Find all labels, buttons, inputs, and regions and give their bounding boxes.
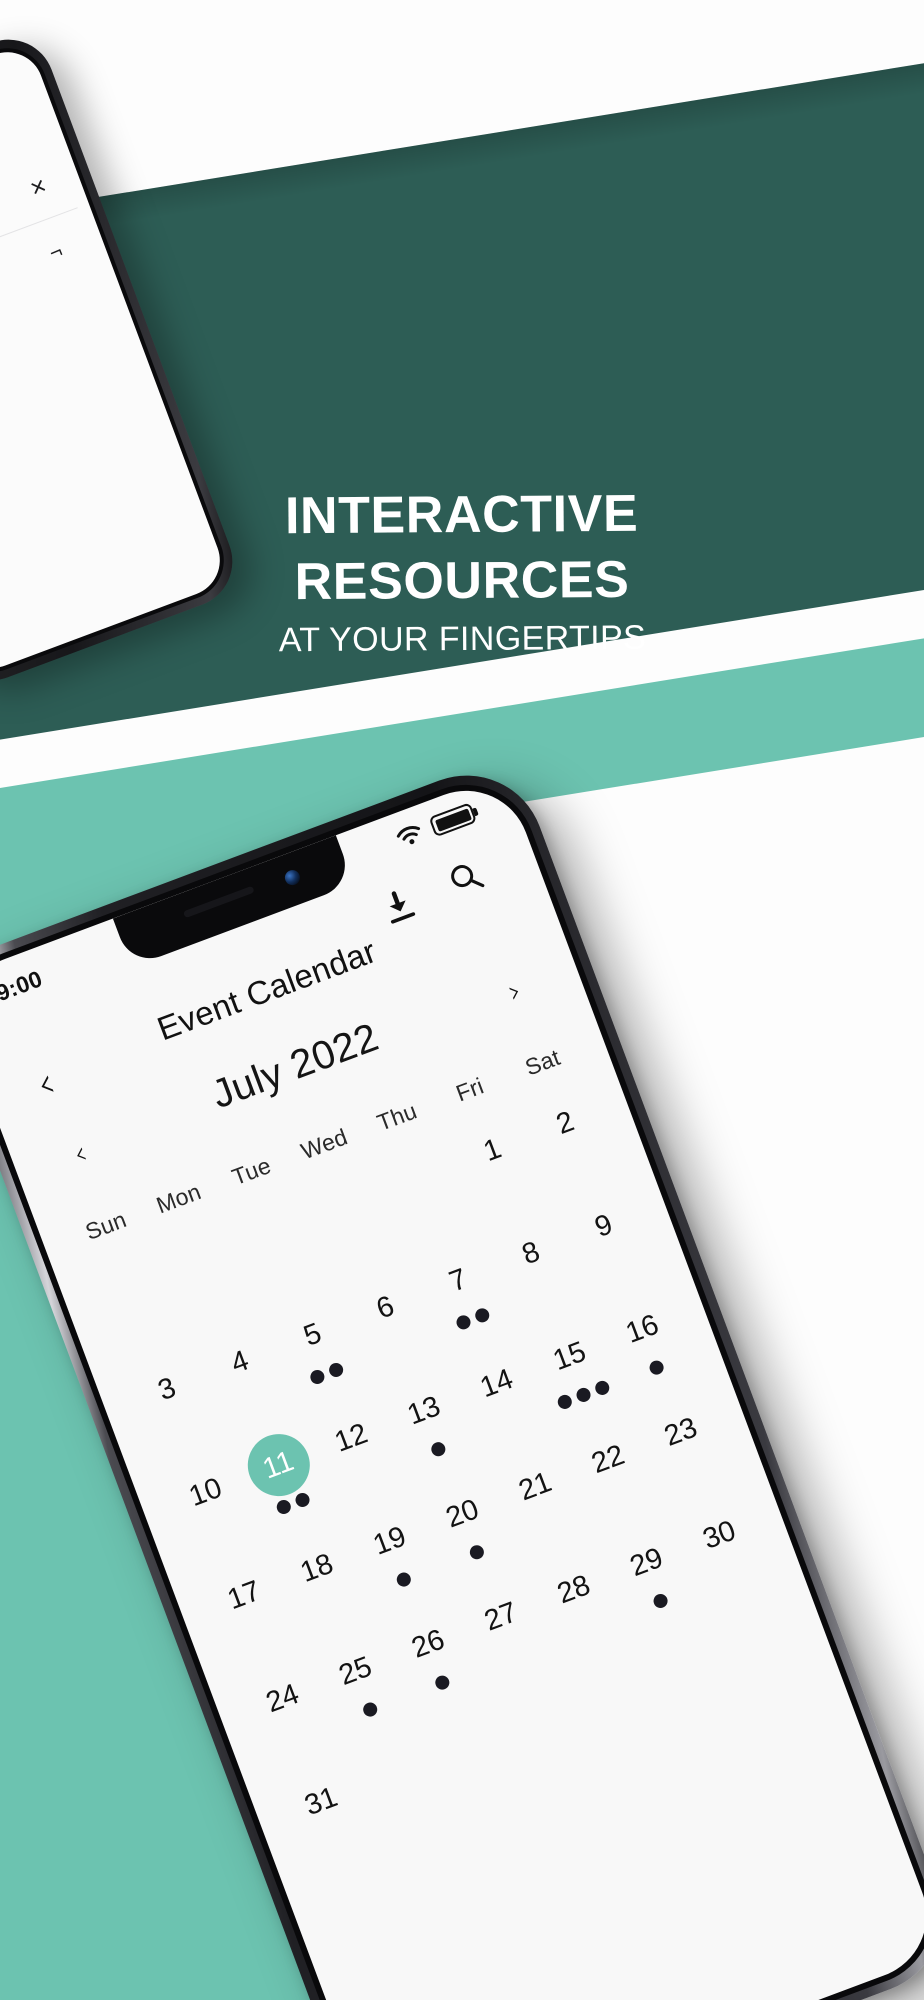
day-number: 9 <box>564 1186 644 1266</box>
event-dots <box>467 1542 486 1562</box>
headline-line-2: RESOURCES <box>0 545 924 617</box>
prev-month-button[interactable]: ‹ <box>69 1138 91 1171</box>
headline-block: INTERACTIVE RESOURCES AT YOUR FINGERTIPS <box>0 479 924 664</box>
day-number: 19 <box>350 1501 430 1581</box>
event-dots <box>395 1570 414 1590</box>
battery-full-icon <box>429 802 478 837</box>
event-dots <box>647 1358 666 1378</box>
event-dots <box>547 1518 553 1533</box>
event-dot <box>361 1701 379 1719</box>
event-dot <box>327 1361 345 1379</box>
day-number: 28 <box>534 1550 614 1630</box>
event-dot <box>468 1543 486 1561</box>
event-dots <box>543 1284 549 1299</box>
event-dot <box>274 1498 292 1516</box>
day-number: 31 <box>281 1762 361 1842</box>
search-icon[interactable] <box>443 855 489 901</box>
event-dots <box>251 1393 257 1408</box>
event-dots <box>513 1648 519 1663</box>
event-dots <box>397 1339 403 1354</box>
event-dots <box>692 1463 698 1478</box>
download-icon[interactable] <box>377 885 421 929</box>
calendar-day-31[interactable]: 31 <box>270 1750 379 1875</box>
event-dots <box>360 1700 379 1720</box>
event-dots <box>333 1832 339 1847</box>
day-number: 30 <box>680 1495 760 1575</box>
event-dot <box>556 1393 574 1411</box>
day-number: 24 <box>243 1659 323 1739</box>
next-month-button[interactable]: › <box>504 975 526 1008</box>
day-number: 10 <box>166 1453 246 1533</box>
day-number: 6 <box>346 1268 426 1348</box>
day-number: 21 <box>495 1447 575 1527</box>
day-number: 1 <box>453 1110 533 1190</box>
event-dots <box>620 1490 626 1505</box>
status-time: 9:00 <box>0 965 46 1007</box>
day-number: 12 <box>311 1398 391 1478</box>
day-number: 8 <box>491 1213 571 1293</box>
status-indicators <box>394 802 477 850</box>
event-dot <box>454 1313 472 1331</box>
event-dot <box>575 1386 593 1404</box>
event-dots <box>179 1420 185 1435</box>
event-dot <box>652 1592 670 1610</box>
event-dots <box>615 1257 621 1272</box>
corner-mark-icon: ¬ <box>46 240 65 264</box>
day-number: 22 <box>568 1420 648 1500</box>
event-dots <box>217 1523 223 1538</box>
day-number: 17 <box>204 1556 284 1636</box>
back-button[interactable]: ‹ <box>31 1061 61 1106</box>
event-dots <box>429 1439 448 1459</box>
event-dot <box>293 1491 311 1509</box>
day-number: 23 <box>641 1392 721 1472</box>
event-dots <box>294 1729 300 1744</box>
day-number: 29 <box>607 1523 687 1603</box>
day-number: 13 <box>384 1371 464 1451</box>
event-dots <box>652 1591 671 1611</box>
event-dots <box>585 1621 591 1636</box>
event-dots <box>508 1414 514 1429</box>
day-number: 3 <box>127 1350 207 1430</box>
event-dot <box>473 1306 491 1324</box>
event-dot <box>648 1359 666 1377</box>
poster-stage: INTERACTIVE RESOURCES AT YOUR FINGERTIPS… <box>0 0 924 2000</box>
event-dots <box>256 1626 262 1641</box>
divider <box>0 207 78 304</box>
day-number: 27 <box>461 1577 541 1657</box>
event-dot <box>429 1440 447 1458</box>
event-dot <box>395 1570 413 1588</box>
close-icon[interactable]: × <box>26 172 49 202</box>
event-dots <box>433 1673 452 1693</box>
event-dots <box>363 1469 369 1484</box>
event-dots <box>328 1599 334 1614</box>
day-number: 2 <box>525 1083 605 1163</box>
sub-headline: AT YOUR FINGERTIPS <box>0 615 924 664</box>
day-number: 4 <box>200 1322 280 1402</box>
day-number: 25 <box>316 1631 396 1711</box>
event-dot <box>434 1673 452 1691</box>
event-dot <box>594 1379 612 1397</box>
day-number: 18 <box>277 1528 357 1608</box>
event-dots <box>731 1566 737 1581</box>
day-number: 14 <box>457 1344 537 1424</box>
event-dot <box>309 1368 327 1386</box>
day-number: 20 <box>423 1474 503 1554</box>
event-dots <box>504 1181 510 1196</box>
day-number: 16 <box>602 1289 682 1369</box>
wifi-icon <box>394 822 425 850</box>
day-number: 26 <box>388 1604 468 1684</box>
event-dots <box>577 1154 583 1169</box>
headline-line-1: INTERACTIVE <box>0 479 924 551</box>
